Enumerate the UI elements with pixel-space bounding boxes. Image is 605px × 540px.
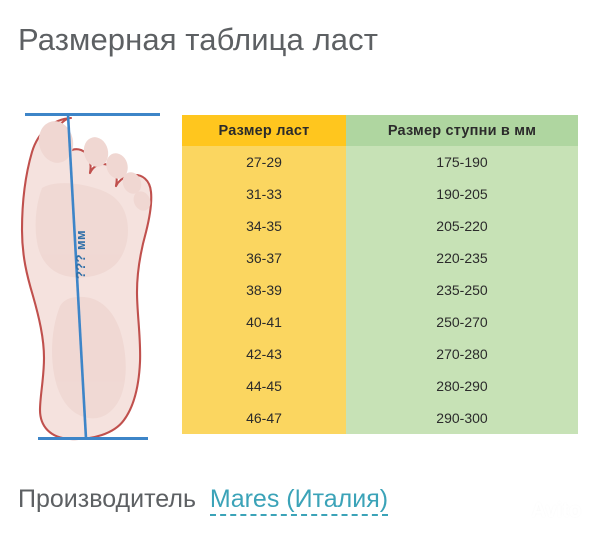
table-row: 36-37 220-235 [182, 242, 578, 274]
cell-foot-length: 175-190 [346, 146, 578, 178]
cell-foot-length: 220-235 [346, 242, 578, 274]
cell-foot-length: 190-205 [346, 178, 578, 210]
cell-foot-length: 235-250 [346, 274, 578, 306]
table-body: 27-29 175-190 31-33 190-205 34-35 205-22… [182, 146, 578, 434]
cell-foot-length: 280-290 [346, 370, 578, 402]
cell-foot-length: 290-300 [346, 402, 578, 434]
cell-fin-size: 36-37 [182, 242, 346, 274]
size-chart-table: Размер ласт Размер ступни в мм 27-29 175… [182, 115, 578, 434]
table-header-row: Размер ласт Размер ступни в мм [182, 115, 578, 146]
cell-foot-length: 250-270 [346, 306, 578, 338]
page-root: Размерная таблица ласт [0, 0, 605, 540]
cell-fin-size: 31-33 [182, 178, 346, 210]
table-row: 27-29 175-190 [182, 146, 578, 178]
cell-fin-size: 42-43 [182, 338, 346, 370]
table-header: Размер ласт Размер ступни в мм [182, 115, 578, 146]
table-row: 42-43 270-280 [182, 338, 578, 370]
cell-foot-length: 205-220 [346, 210, 578, 242]
column-header-foot-length: Размер ступни в мм [346, 115, 578, 146]
foot-measurement-diagram: ??? мм [8, 100, 178, 448]
avito-circles-icon [505, 497, 527, 524]
table-row: 46-47 290-300 [182, 402, 578, 434]
manufacturer-label: Производитель [18, 485, 196, 513]
cell-foot-length: 270-280 [346, 338, 578, 370]
manufacturer-line: Производитель Mares (Италия) [18, 485, 388, 514]
measure-value-label: ??? мм [73, 230, 88, 279]
cell-fin-size: 38-39 [182, 274, 346, 306]
table-row: 44-45 280-290 [182, 370, 578, 402]
cell-fin-size: 44-45 [182, 370, 346, 402]
table-row: 31-33 190-205 [182, 178, 578, 210]
cell-fin-size: 34-35 [182, 210, 346, 242]
avito-watermark: Avito [505, 497, 581, 524]
column-header-fin-size: Размер ласт [182, 115, 346, 146]
avito-wordmark: Avito [531, 499, 581, 523]
cell-fin-size: 46-47 [182, 402, 346, 434]
cell-fin-size: 40-41 [182, 306, 346, 338]
manufacturer-link[interactable]: Mares (Италия) [210, 485, 388, 516]
table-row: 38-39 235-250 [182, 274, 578, 306]
table-row: 40-41 250-270 [182, 306, 578, 338]
cell-fin-size: 27-29 [182, 146, 346, 178]
table-row: 34-35 205-220 [182, 210, 578, 242]
page-title: Размерная таблица ласт [18, 22, 378, 58]
